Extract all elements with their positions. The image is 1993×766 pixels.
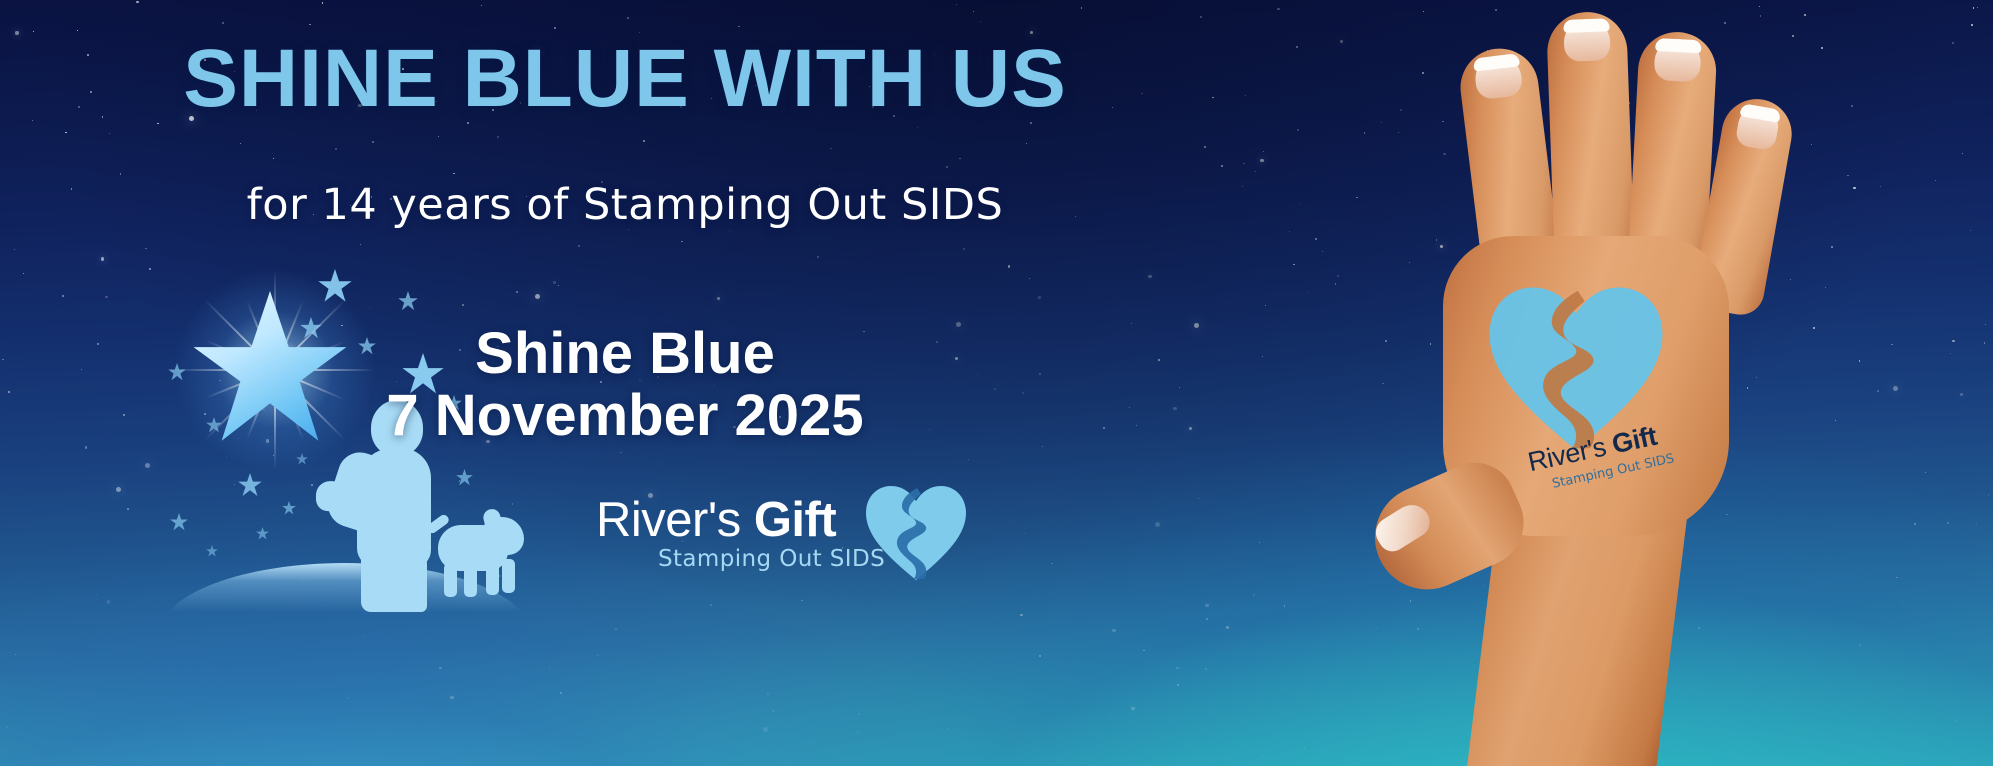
- subheadline: for 14 years of Stamping Out SIDS: [0, 180, 1250, 230]
- logo-tagline: Stamping Out SIDS: [658, 546, 885, 572]
- river-heart-icon: [864, 484, 968, 580]
- event-date: 7 November 2025: [0, 382, 1250, 449]
- logo-wordmark: River's Gift: [596, 492, 836, 548]
- shine-blue-banner: SHINE BLUE WITH US for 14 years of Stamp…: [0, 0, 1993, 766]
- rivers-gift-logo[interactable]: River's Gift Stamping Out SIDS: [596, 492, 896, 582]
- page-title: SHINE BLUE WITH US: [0, 32, 1250, 126]
- event-title: Shine Blue: [0, 320, 1250, 387]
- logo-word-gift: Gift: [754, 493, 836, 547]
- logo-word-rivers: River's: [596, 493, 754, 547]
